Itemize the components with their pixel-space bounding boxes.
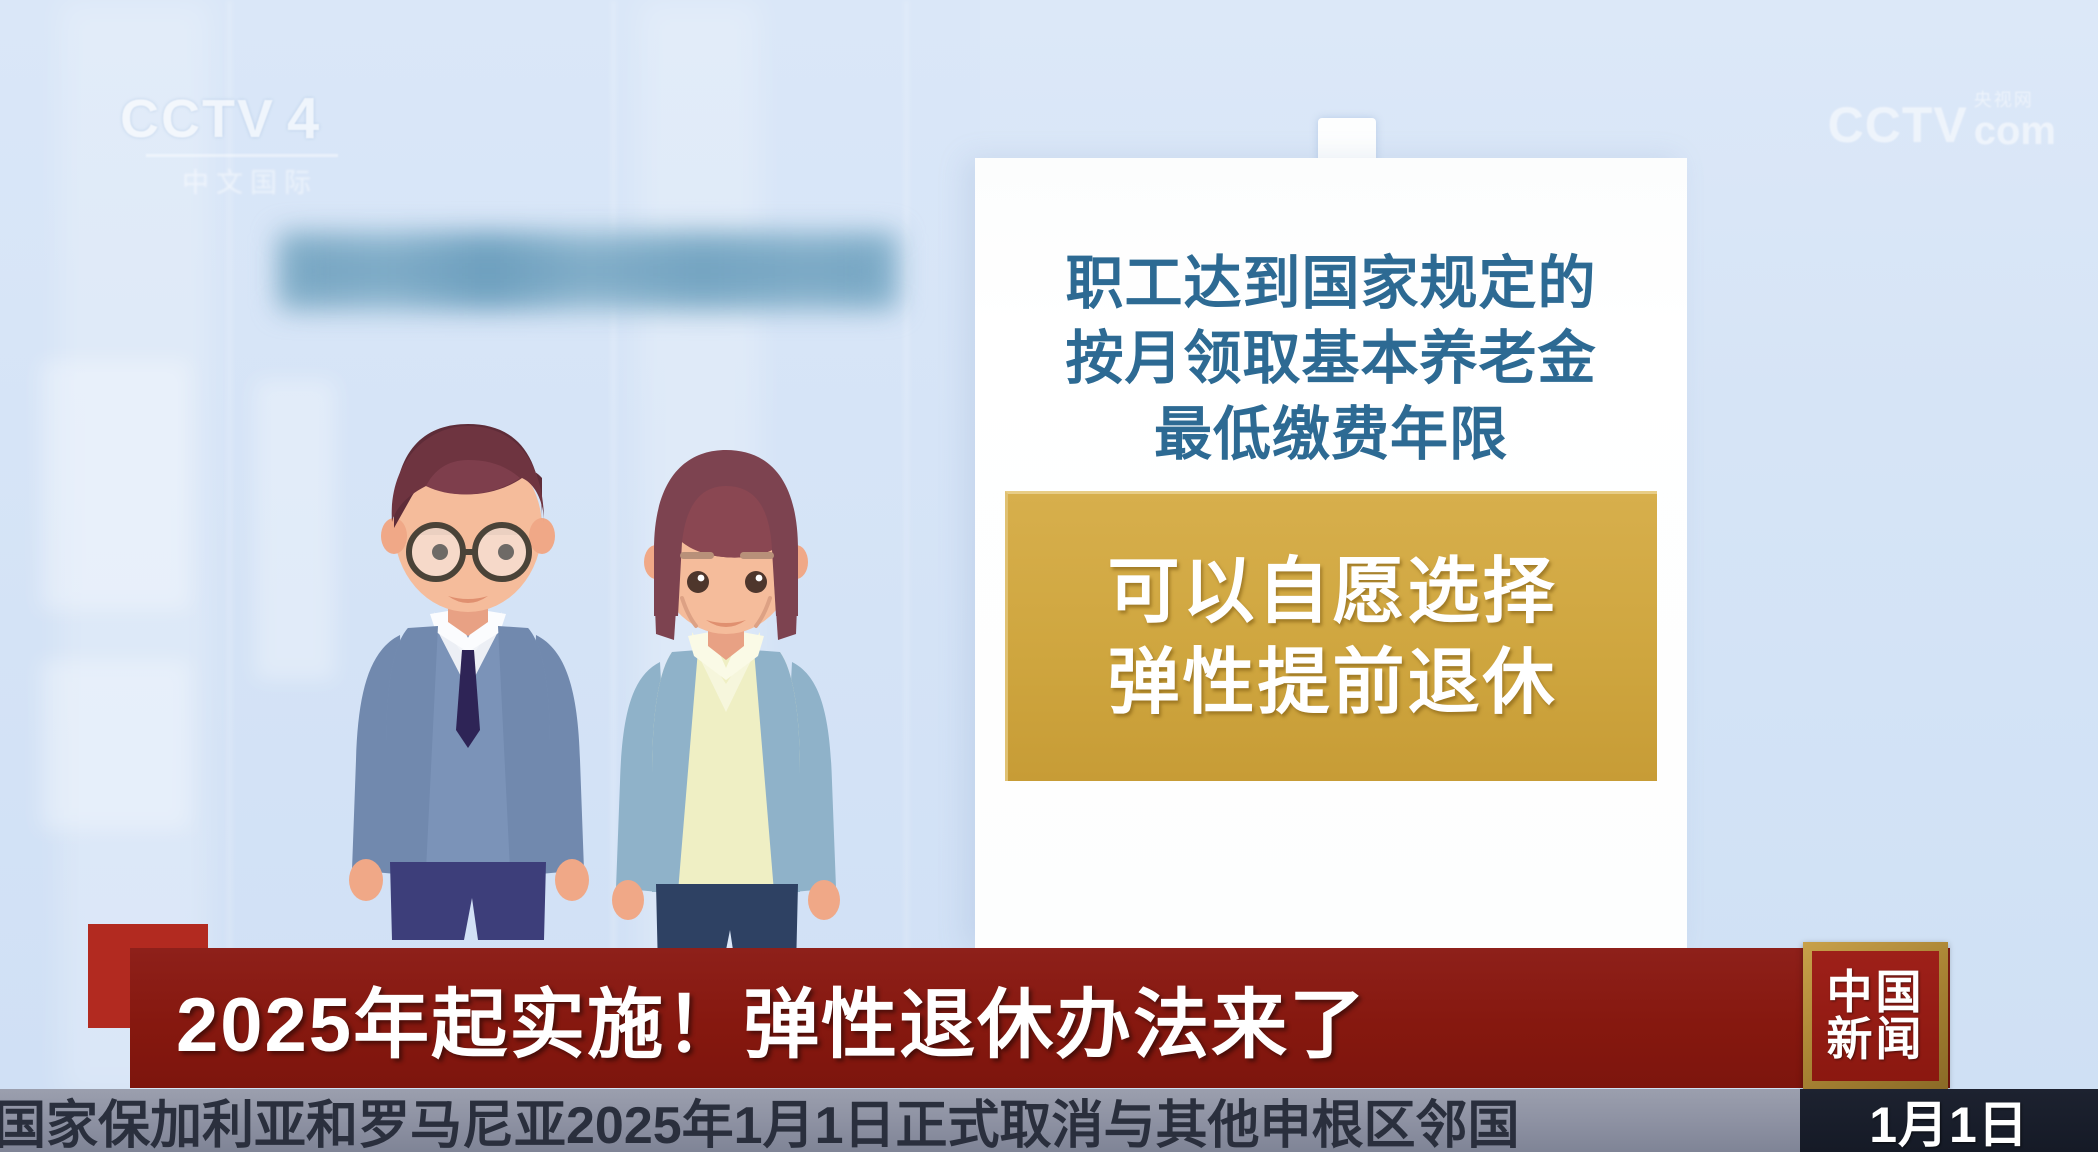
- program-logo-line-1: 中国: [1827, 969, 1925, 1016]
- lower-third: 2025年起实施！弹性退休办法来了 中国 新闻: [0, 924, 2098, 1097]
- blurred-background-title-core: [292, 246, 882, 296]
- background-ghost-rect-1: [40, 360, 190, 610]
- card-heading-line-1: 职工达到国家规定的: [1009, 246, 1653, 321]
- channel-logo-cctv4: CCTV 4 中文国际: [120, 88, 338, 200]
- news-ticker-text: 国家保加利亚和罗马尼亚2025年1月1日正式取消与其他申根区邻国: [0, 1089, 1520, 1152]
- news-ticker-date: 1月1日: [1869, 1085, 2029, 1152]
- card-heading-line-2: 按月领取基本养老金: [1009, 321, 1653, 396]
- program-logo-line-2: 新闻: [1827, 1016, 1925, 1063]
- news-ticker: 国家保加利亚和罗马尼亚2025年1月1日正式取消与其他申根区邻国 1月1日: [0, 1089, 2098, 1152]
- channel-logo-row: CCTV 4: [120, 88, 338, 150]
- background-ghost-rect-3: [255, 380, 335, 680]
- illustration-characters: [330, 400, 890, 960]
- watermark-cctv-com: CCTV 央视网 com: [1828, 86, 2056, 150]
- watermark-domain: com: [1974, 112, 2056, 150]
- watermark-sub: 央视网 com: [1974, 86, 2056, 150]
- program-logo-inner: 中国 新闻: [1812, 951, 1939, 1081]
- character-elderly-woman: [612, 450, 840, 960]
- card-highlight-banner: 可以自愿选择 弹性提前退休: [1005, 491, 1657, 781]
- watermark-mark: CCTV: [1828, 100, 1968, 150]
- card-heading-line-3: 最低缴费年限: [1009, 397, 1653, 472]
- channel-logo-divider: [146, 154, 338, 157]
- news-ticker-date-box: 1月1日: [1800, 1089, 2098, 1152]
- tv-broadcast-frame: CCTV 4 中文国际 CCTV 央视网 com: [0, 0, 2098, 1152]
- channel-logo-subtitle: 中文国际: [182, 161, 338, 200]
- channel-logo-name: CCTV: [120, 88, 275, 150]
- card-heading: 职工达到国家规定的 按月领取基本养老金 最低缴费年限: [975, 158, 1687, 472]
- program-logo: 中国 新闻: [1803, 942, 1948, 1090]
- channel-logo-number: 4: [283, 90, 321, 148]
- card-highlight-line-1: 可以自愿选择: [1107, 550, 1557, 635]
- card-highlight-line-2: 弹性提前退休: [1107, 641, 1557, 726]
- background-ghost-rect-2: [40, 660, 190, 830]
- lower-third-headline: 2025年起实施！弹性退休办法来了: [176, 972, 1367, 1064]
- character-man-with-glasses: [349, 424, 589, 940]
- info-card: 职工达到国家规定的 按月领取基本养老金 最低缴费年限 可以自愿选择 弹性提前退休: [975, 158, 1687, 948]
